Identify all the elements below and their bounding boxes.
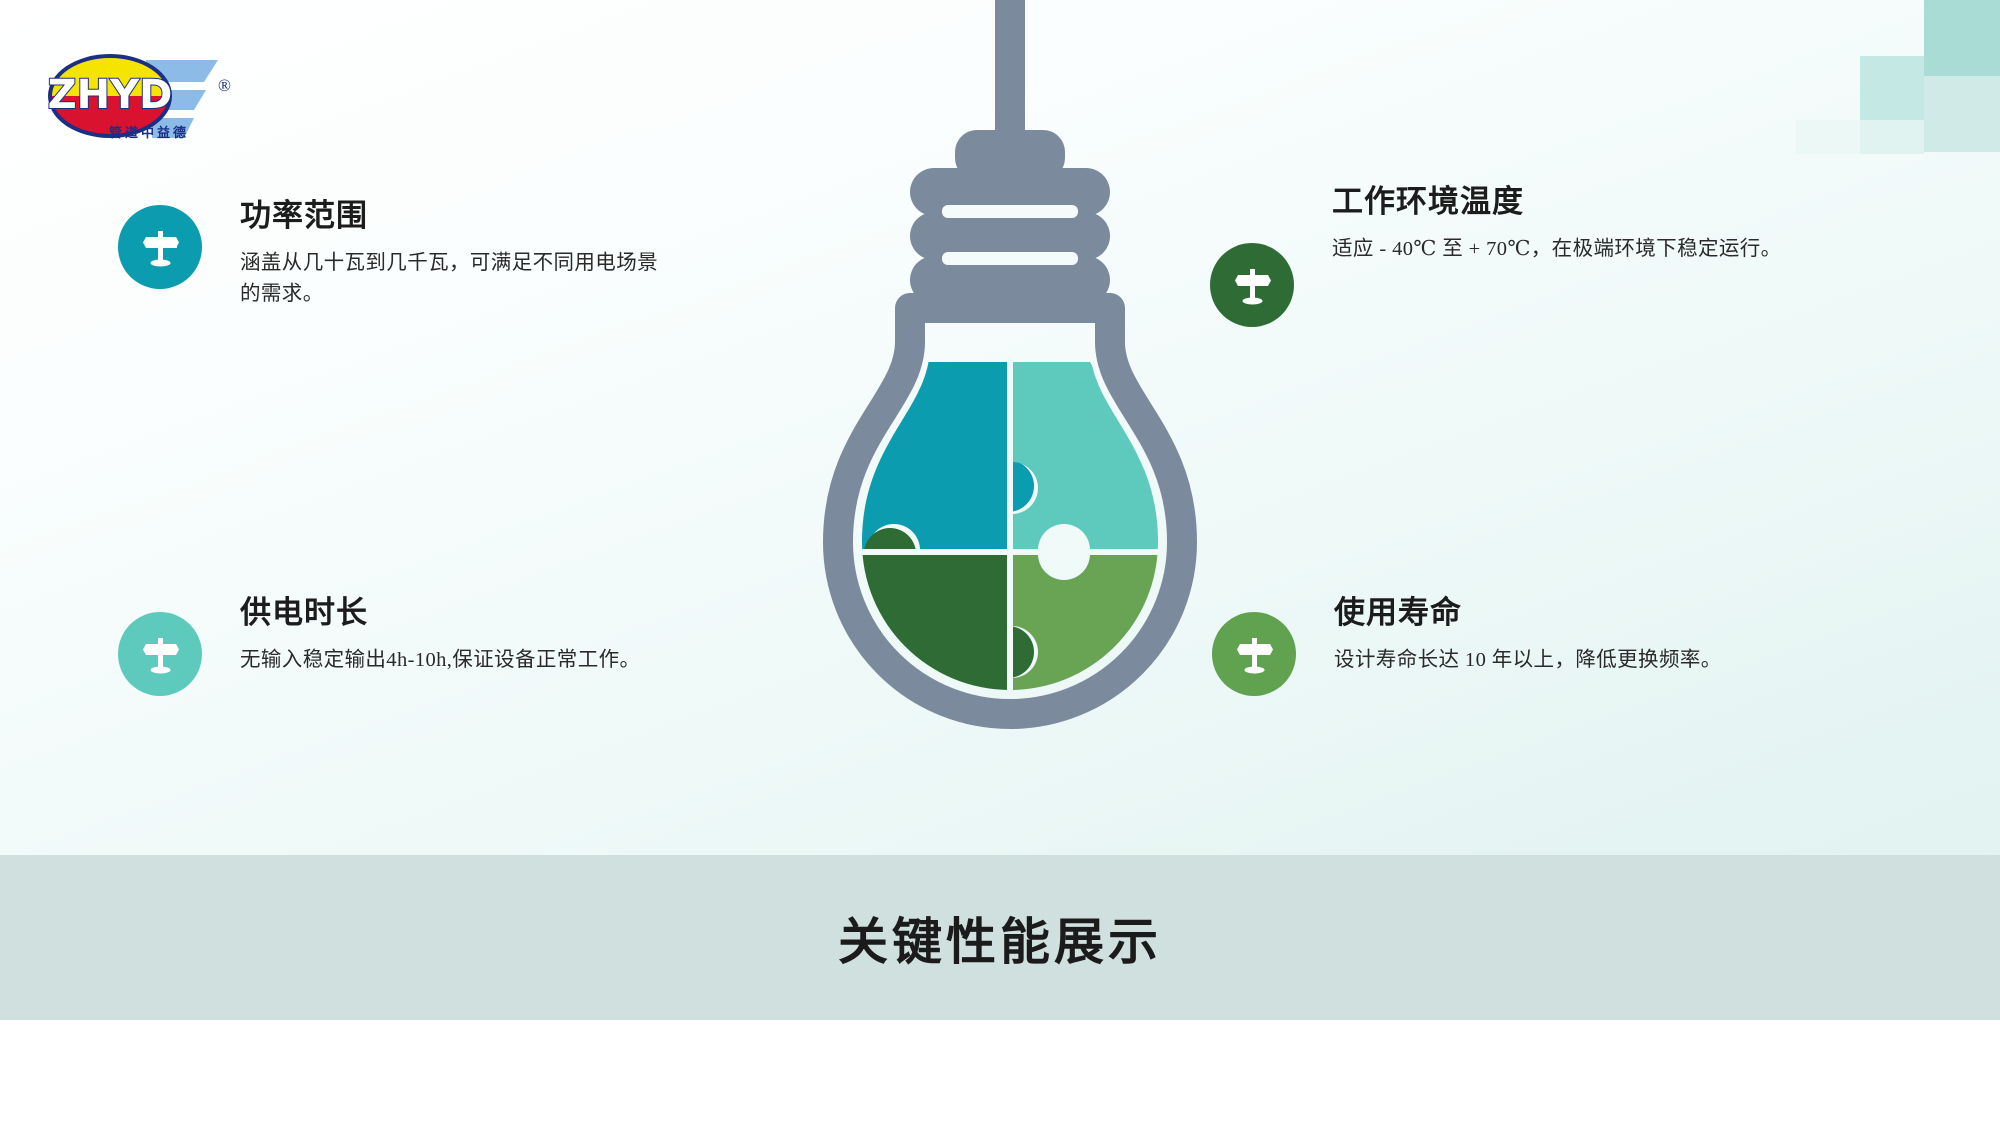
feature-title: 功率范围 <box>240 199 678 235</box>
feature-title: 工作环境温度 <box>1332 185 1782 221</box>
feature-icon-power-supply-duration <box>118 612 202 696</box>
lightbulb-puzzle-illustration <box>790 0 1230 830</box>
banner-footer-strip <box>0 1020 2000 1125</box>
company-logo: ZHYD 管道中益德 ® <box>38 38 218 148</box>
feature-text-service-life: 使用寿命 设计寿命长达 10 年以上，降低更换频率。 <box>1334 596 1722 676</box>
feature-icon-service-life <box>1212 612 1296 696</box>
banner-title-area: 关键性能展示 <box>0 855 2000 1020</box>
feature-text-power-supply-duration: 供电时长 无输入稳定输出4h-10h,保证设备正常工作。 <box>240 596 640 676</box>
feature-title: 供电时长 <box>240 596 640 632</box>
feature-text-power-range: 功率范围 涵盖从几十瓦到几千瓦，可满足不同用电场景的需求。 <box>240 199 678 311</box>
slide-canvas: ZHYD 管道中益德 ® <box>0 0 2000 1125</box>
feature-icon-power-range <box>118 205 202 289</box>
feature-title: 使用寿命 <box>1334 596 1722 632</box>
feature-icon-operating-temperature <box>1210 243 1294 327</box>
signpost-icon <box>1232 632 1276 676</box>
signpost-icon <box>1230 263 1274 307</box>
bottom-banner: 关键性能展示 <box>0 855 2000 1125</box>
registered-mark-icon: ® <box>218 76 231 96</box>
feature-description: 无输入稳定输出4h-10h,保证设备正常工作。 <box>240 645 640 677</box>
logo-wordmark: ZHYD <box>48 72 173 118</box>
logo-subtitle: 管道中益德 <box>84 122 214 141</box>
banner-title: 关键性能展示 <box>838 902 1162 974</box>
feature-description: 涵盖从几十瓦到几千瓦，可满足不同用电场景的需求。 <box>240 248 678 312</box>
signpost-icon <box>138 225 182 269</box>
feature-description: 适应 - 40℃ 至 + 70℃，在极端环境下稳定运行。 <box>1332 234 1782 266</box>
signpost-icon <box>138 632 182 676</box>
feature-text-operating-temperature: 工作环境温度 适应 - 40℃ 至 + 70℃，在极端环境下稳定运行。 <box>1332 185 1782 265</box>
feature-description: 设计寿命长达 10 年以上，降低更换频率。 <box>1334 645 1722 677</box>
